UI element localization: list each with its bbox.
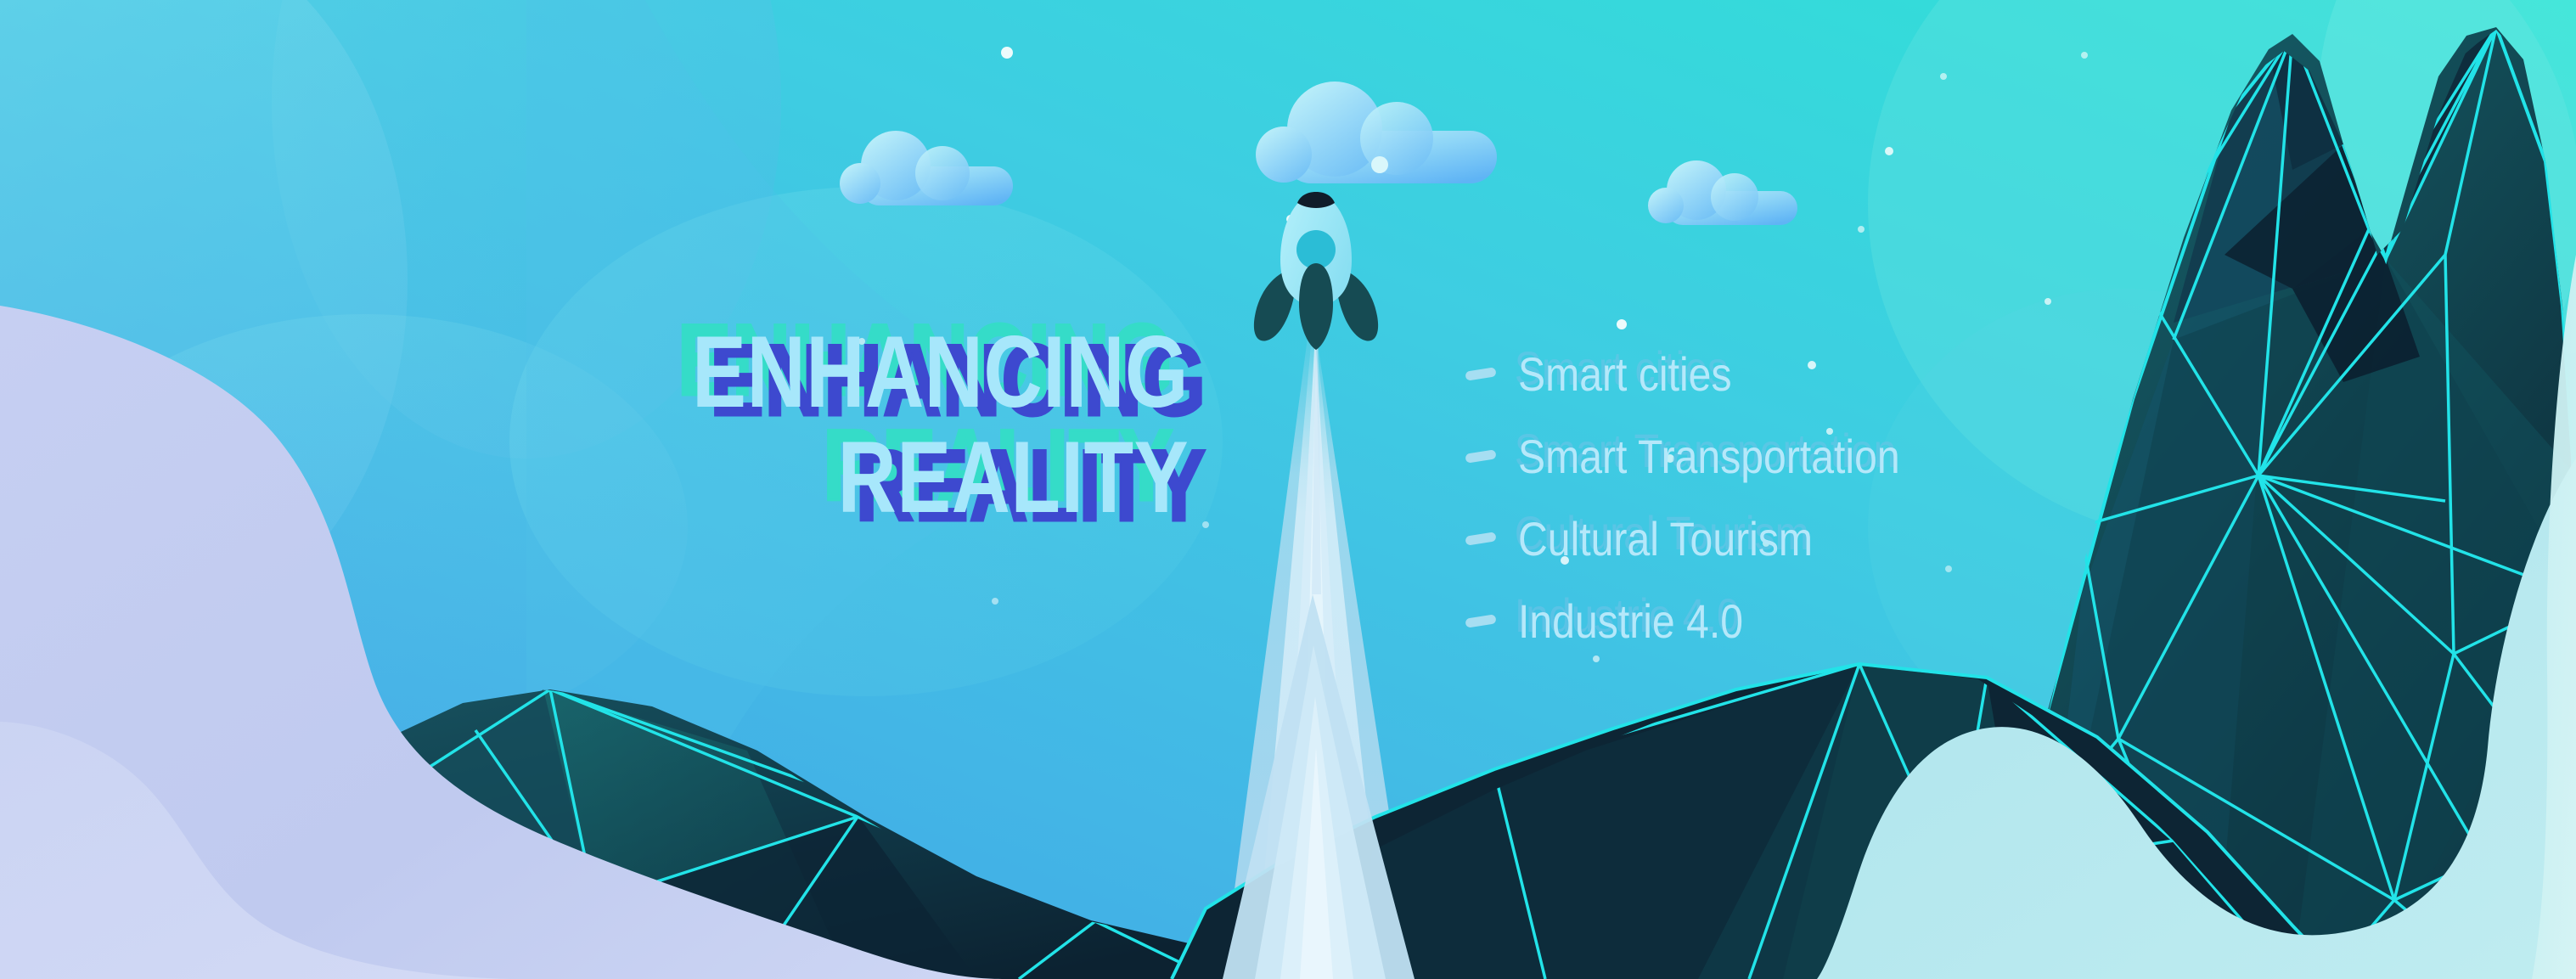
- dash-bullet-icon: [1465, 532, 1496, 545]
- feature-label-industrie-40: Industrie 4.0 Industrie 4.0: [1518, 598, 1743, 645]
- feature-label-text: Cultural Tourism: [1518, 512, 1813, 565]
- dash-bullet-icon: [1465, 614, 1496, 627]
- feature-label-smart-transportation: Smart Transportation Smart Transportatio…: [1518, 433, 1900, 481]
- dash-bullet-icon: [1465, 449, 1496, 463]
- feature-label-smart-cities: Smart cities Smart cities: [1518, 351, 1732, 398]
- feature-label-text: Industrie 4.0: [1518, 594, 1743, 648]
- enhancing-reality-banner: ENHANCING ENHANCING ENHANCING REALITY RE…: [0, 0, 2576, 979]
- feature-item-cultural-tourism: Cultural Tourism Cultural Tourism: [1464, 498, 2228, 580]
- feature-item-smart-transportation: Smart Transportation Smart Transportatio…: [1464, 415, 2228, 498]
- feature-label-text: Smart Transportation: [1518, 430, 1900, 483]
- dash-bullet-icon: [1465, 367, 1496, 380]
- feature-list: Smart cities Smart cities Smart Transpor…: [1464, 333, 2228, 662]
- feature-item-industrie-40: Industrie 4.0 Industrie 4.0: [1464, 580, 2228, 662]
- feature-label-text: Smart cities: [1518, 347, 1732, 401]
- feature-label-cultural-tourism: Cultural Tourism Cultural Tourism: [1518, 515, 1813, 563]
- feature-item-smart-cities: Smart cities Smart cities: [1464, 333, 2228, 415]
